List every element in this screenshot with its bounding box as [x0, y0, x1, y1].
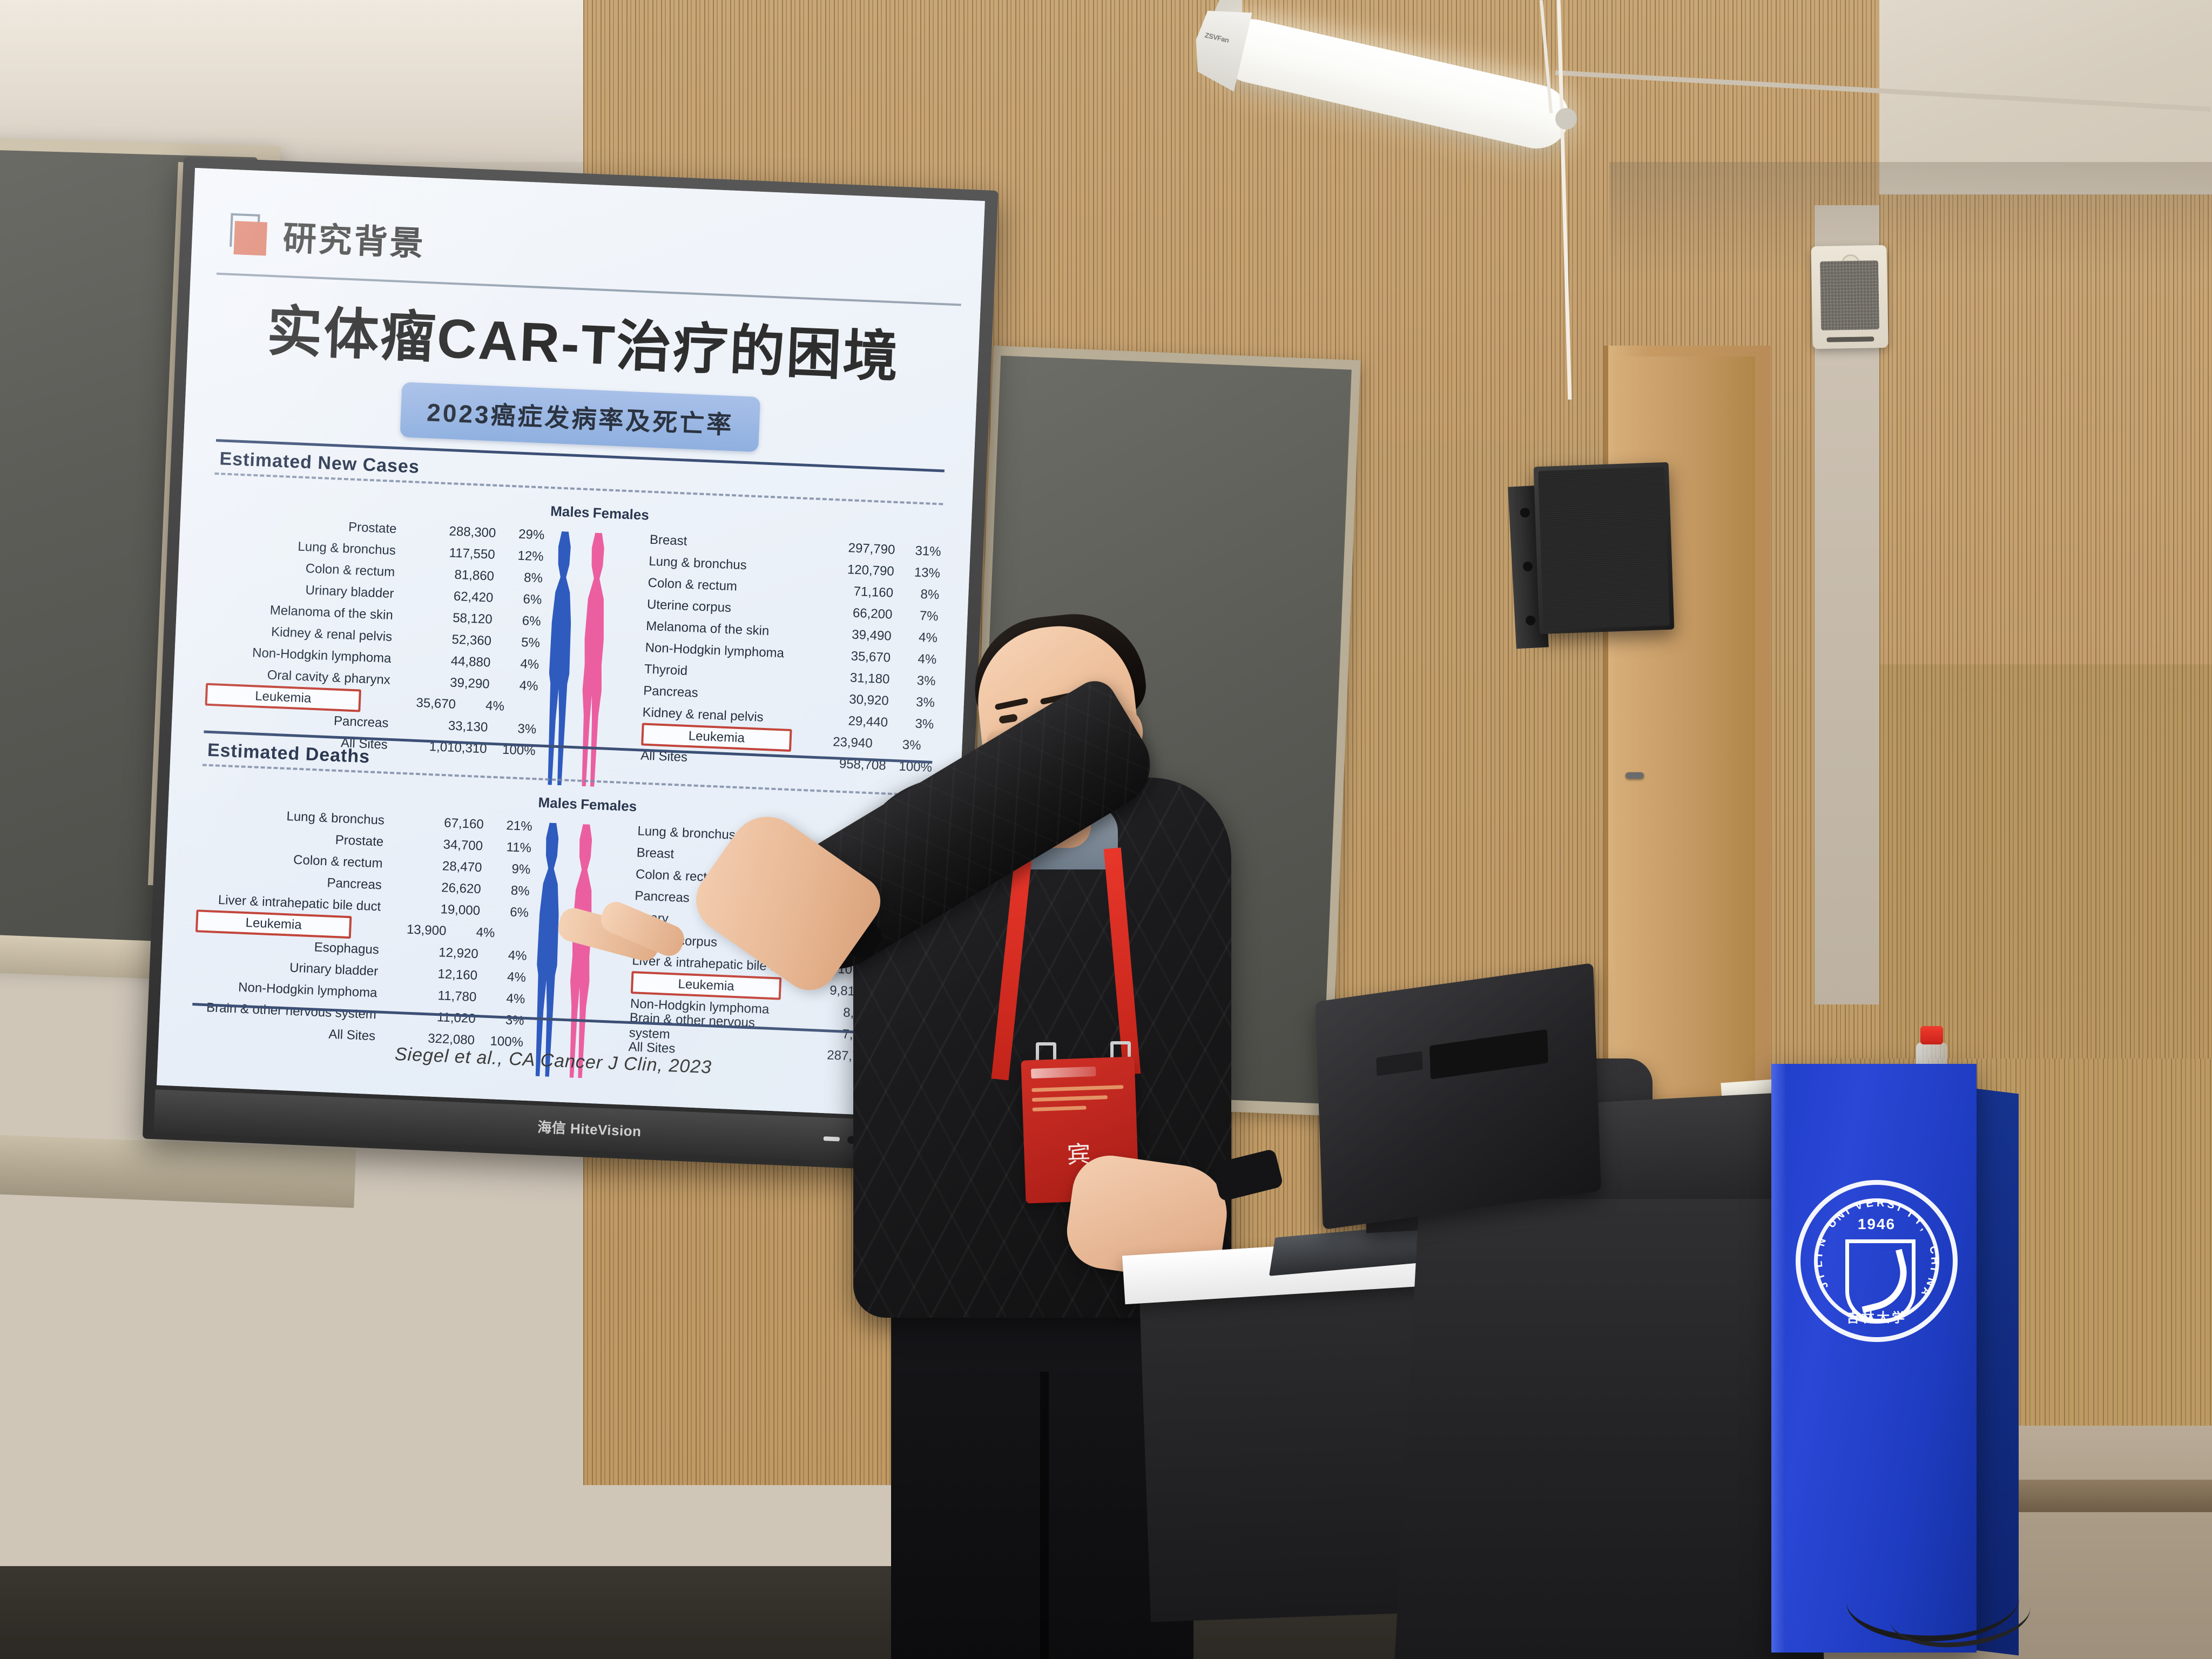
podium-edge — [1771, 1064, 1785, 1653]
site-percent: 8% — [494, 569, 546, 586]
site-value: 11,780 — [395, 987, 477, 1005]
site-value: 288,300 — [415, 523, 496, 541]
seal-arc-char: V — [1853, 1199, 1865, 1213]
site-value: 117,550 — [414, 544, 495, 563]
soffit-shadow — [1609, 162, 2212, 275]
university-seal: 1946 JILIN UNIVERSITY, CHINA 吉林大学 — [1796, 1180, 1958, 1342]
site-percent: 5% — [491, 634, 543, 651]
site-value: 12,160 — [396, 965, 477, 983]
pa-speaker-box — [1534, 462, 1675, 635]
door-handle[interactable] — [1626, 772, 1644, 779]
seal-arc-char: N — [1815, 1237, 1829, 1248]
site-percent: 9% — [482, 860, 534, 878]
site-percent: 11% — [482, 839, 535, 856]
badge-logo-icon — [1031, 1067, 1096, 1078]
seal-arc-char: C — [1926, 1245, 1940, 1256]
males-header: Males — [538, 794, 578, 813]
seal-arc-char: A — [1918, 1285, 1933, 1298]
site-value: 39,290 — [408, 673, 490, 692]
wire-ceiling-mount — [1555, 108, 1577, 130]
seal-arc-char: I — [1896, 1202, 1903, 1214]
seal-arc-char: I — [1815, 1273, 1828, 1280]
seal-arc-char: I — [1813, 1253, 1825, 1257]
site-value: 26,620 — [400, 879, 481, 897]
site-percent: 4% — [446, 924, 498, 941]
site-percent: 12% — [495, 548, 547, 565]
seal-chinese-text: 吉林大学 — [1796, 1307, 1958, 1326]
gender-figures: Males Females — [538, 503, 651, 766]
females-header: Females — [581, 796, 637, 815]
site-value: 34,700 — [402, 835, 483, 854]
site-percent: 29% — [496, 526, 548, 543]
seal-arc-char: T — [1904, 1207, 1917, 1221]
site-percent: 13% — [894, 564, 940, 582]
males-header: Males — [550, 503, 590, 521]
site-value: 11,020 — [394, 1008, 476, 1027]
site-percent: 4% — [478, 947, 530, 964]
site-percent: 4% — [489, 677, 542, 694]
seal-arc-char: J — [1818, 1280, 1832, 1291]
site-value: 81,860 — [413, 565, 494, 584]
site-value: 58,120 — [411, 609, 493, 627]
bottle-cap[interactable] — [1920, 1026, 1943, 1044]
lectern-body — [1393, 1199, 1825, 1659]
monitor-vent — [1429, 1029, 1548, 1080]
presenter-leg-split — [1040, 1372, 1049, 1659]
site-percent: 21% — [483, 817, 536, 834]
slide-section-kicker: 研究背景 — [229, 208, 426, 265]
site-percent: 31% — [895, 543, 941, 560]
kicker-mark-icon — [230, 211, 270, 256]
site-value: 71,160 — [816, 583, 893, 601]
site-percent: 6% — [480, 903, 532, 921]
site-value: 33,130 — [407, 717, 488, 735]
kicker-label: 研究背景 — [282, 211, 427, 265]
seal-arc-char: I — [1927, 1267, 1940, 1271]
seal-arc-char: L — [1812, 1260, 1825, 1269]
seal-arc-char: R — [1877, 1197, 1884, 1210]
speaker-slot — [1826, 336, 1874, 342]
site-value: 12,920 — [397, 943, 478, 962]
new-cases-males-column: . Prostate288,30029%Lung & bronchus117,5… — [203, 489, 549, 763]
site-percent: 3% — [488, 720, 540, 738]
lecture-hall-scene: ZSVFan — [0, 0, 2212, 1659]
bracket-hole — [1522, 562, 1533, 572]
lectern-monitor[interactable] — [1315, 963, 1601, 1230]
site-percent: 6% — [492, 612, 544, 630]
site-value: 62,420 — [412, 587, 494, 605]
seal-arc-char: E — [1865, 1197, 1874, 1211]
site-percent: 4% — [477, 968, 529, 986]
site-value: 44,880 — [409, 652, 491, 670]
seal-arc-char: N — [1923, 1276, 1937, 1287]
site-value: 35,670 — [374, 694, 456, 712]
monitor-brand-mark — [1376, 1051, 1422, 1076]
site-percent: 4% — [455, 697, 508, 714]
site-name: Breast — [649, 532, 819, 555]
site-value: 19,000 — [399, 900, 481, 919]
seal-arc-char: S — [1886, 1198, 1896, 1212]
site-name: Colon & rectum — [648, 576, 817, 598]
site-value: 28,470 — [401, 857, 482, 875]
site-value: 52,360 — [410, 630, 491, 649]
site-percent: 3% — [475, 1011, 528, 1029]
site-percent: 8% — [481, 882, 533, 899]
pa-speaker-face — [1538, 467, 1670, 630]
seal-arc-char: H — [1928, 1256, 1941, 1265]
speaker-grille — [1820, 260, 1879, 331]
female-silhouette-icon — [562, 824, 601, 1078]
wall-speaker — [1811, 245, 1888, 349]
site-value: 67,160 — [402, 814, 484, 832]
females-header: Females — [592, 504, 649, 523]
bracket-hole — [1520, 508, 1530, 518]
site-value: 297,790 — [818, 539, 895, 558]
site-percent: 4% — [490, 656, 543, 673]
male-silhouette-icon — [528, 822, 567, 1077]
site-value: 120,790 — [817, 561, 894, 579]
site-percent: 4% — [476, 990, 529, 1007]
slide-topic-badge: 2023癌症发病率及死亡率 — [400, 382, 760, 452]
site-name: Lung & bronchus — [649, 554, 818, 576]
site-percent: 8% — [893, 586, 939, 603]
bracket-hole — [1526, 615, 1536, 625]
site-percent: 6% — [493, 591, 545, 608]
site-value: 13,900 — [365, 920, 447, 939]
